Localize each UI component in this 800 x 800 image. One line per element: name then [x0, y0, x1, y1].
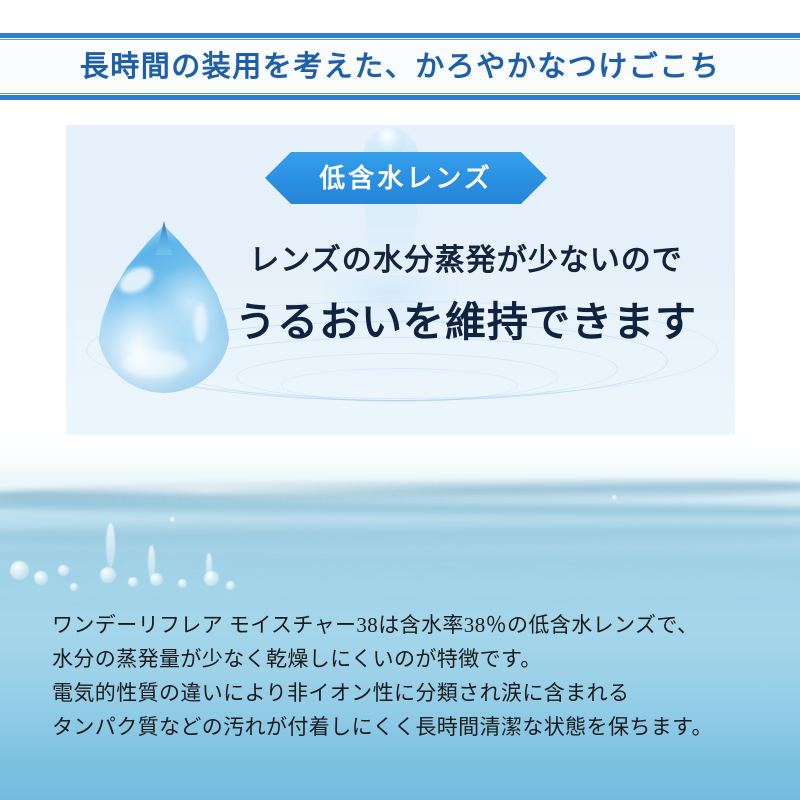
- header-rule-teal-top: [0, 39, 800, 40]
- water-droplet-icon: [98, 225, 230, 393]
- water-bubble-10: [70, 583, 78, 591]
- water-bubble-5: [128, 577, 138, 587]
- badge-label: 低含水レンズ: [319, 165, 492, 191]
- water-bubble-2: [34, 571, 48, 585]
- body-line: 水分の蒸発量が少なく乾燥しにくいのが特徴です。: [52, 642, 762, 676]
- body-paragraph: ワンデーリフレア モイスチャー38は含水率38％の低含水レンズで、 水分の蒸発量…: [52, 608, 762, 744]
- water-bubble-3: [58, 565, 69, 576]
- body-line: 電気的性質の違いにより非イオン性に分類され涙に含まれる: [52, 676, 762, 710]
- water-bubble-1: [10, 561, 29, 580]
- water-bubble-12: [170, 517, 175, 522]
- water-wave-3: [0, 516, 800, 552]
- water-bubble-11: [612, 495, 617, 500]
- hero-headline-secondary: うるおいを維持できます: [216, 295, 716, 349]
- water-bubble-9: [226, 581, 235, 590]
- water-bubble-7: [178, 579, 187, 588]
- water-wave-4: [0, 540, 800, 577]
- water-wave-5: [0, 569, 800, 608]
- droplet-highlight-bottom: [122, 351, 188, 377]
- water-bubble-8: [204, 571, 219, 586]
- water-splash-stem-1: [106, 523, 115, 567]
- advertisement-page: 長時間の装用を考えた、かろやかなつけごこち 低含水レンズ レンズの水分蒸発が少な…: [0, 0, 800, 800]
- hero-panel: 低含水レンズ レンズの水分蒸発が少ないので うるおいを維持できます: [66, 125, 735, 435]
- water-bubble-4: [100, 567, 116, 583]
- ripple-ring-4: [281, 368, 518, 402]
- body-line: ワンデーリフレア モイスチャー38は含水率38％の低含水レンズで、: [52, 608, 762, 642]
- header-rule-blue-top: [0, 33, 800, 38]
- header-rule-blue-bottom: [0, 95, 800, 100]
- water-surface-sheen: [16, 485, 496, 495]
- hero-headline-primary: レンズの水分蒸発が少ないので: [226, 241, 706, 281]
- water-bubble-6: [150, 573, 163, 586]
- water-wave-2: [0, 493, 800, 523]
- water-splash-bead-icon: [376, 127, 406, 155]
- body-line: タンパク質などの汚れが付着しにくく長時間清潔な状態を保ちます。: [52, 710, 762, 744]
- header-rule-teal-bottom: [0, 93, 800, 94]
- droplet-highlight-side: [194, 303, 207, 343]
- page-title: 長時間の装用を考えた、かろやかなつけごこち: [0, 44, 800, 90]
- low-water-content-badge: 低含水レンズ: [265, 152, 547, 204]
